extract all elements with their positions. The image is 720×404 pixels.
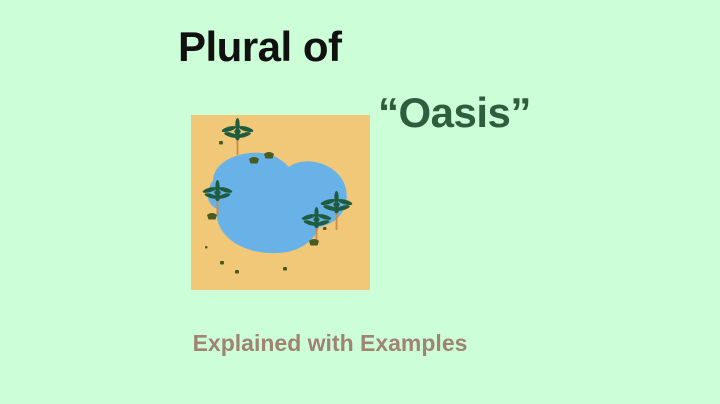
slide-canvas: Plural of “Oasis” <box>0 0 720 404</box>
caption: Explained with Examples <box>0 332 720 355</box>
page-title-line-2: “Oasis” <box>378 92 531 134</box>
oasis-illustration <box>191 115 370 290</box>
page-title-line-1: Plural of <box>178 26 342 68</box>
caption-text: Explained with Examples <box>193 332 468 355</box>
